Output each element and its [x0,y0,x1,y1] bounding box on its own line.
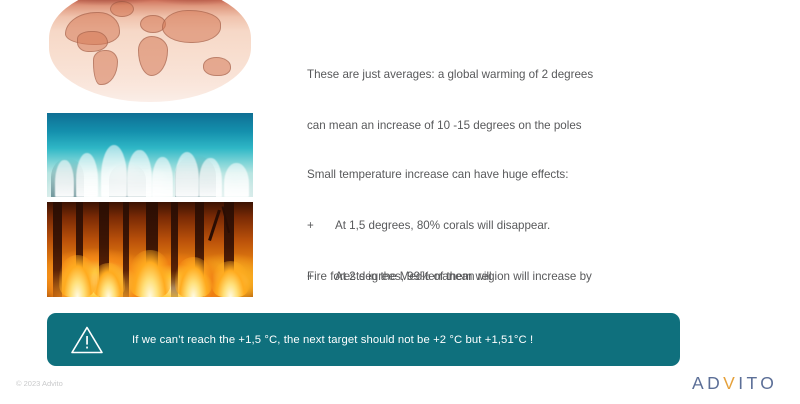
copyright-notice: © 2023 Advito [16,379,63,388]
flame [212,261,249,297]
advito-logo-accent-v: V [723,373,738,393]
landmass-central-america [77,31,107,52]
coral-branch [224,163,249,197]
landmass-south-america [93,50,117,85]
globe-projection-shape [49,0,251,102]
forest-fire-image [47,202,253,297]
advito-logo-part-2: ITO [738,373,777,393]
paragraph-fire-forests-line-1: Fire forests in the Mediterranean region… [307,268,592,285]
coral-branch [152,157,173,197]
flame [59,255,96,297]
advito-logo-part-1: AD [692,373,723,393]
tree-branch [208,209,221,241]
flame [92,263,125,297]
landmass-greenland [110,1,134,17]
plus-bullet-icon: + [307,217,335,234]
global-warming-map-image [47,0,253,104]
callout-banner: If we can’t reach the +1,5 °C, the next … [47,313,680,366]
warning-triangle-icon [70,325,104,355]
landmass-asia [162,10,221,43]
bleached-coral-image [47,113,253,197]
paragraph-averages-line-1: These are just averages: a global warmin… [307,66,593,83]
coral-branch [199,158,222,197]
flame [175,257,212,297]
callout-text: If we can’t reach the +1,5 °C, the next … [132,334,533,346]
list-item: + At 1,5 degrees, 80% corals will disapp… [307,217,568,234]
advito-logo: ADVITO [692,373,777,394]
list-item-label: At 1,5 degrees, 80% corals will disappea… [335,217,550,234]
flame [129,250,170,298]
landmass-africa [138,36,168,76]
coral-branch [55,160,74,197]
slide-canvas: These are just averages: a global warmin… [0,0,800,404]
coral-effects-heading: Small temperature increase can have huge… [307,166,568,183]
landmass-australia [203,57,231,76]
